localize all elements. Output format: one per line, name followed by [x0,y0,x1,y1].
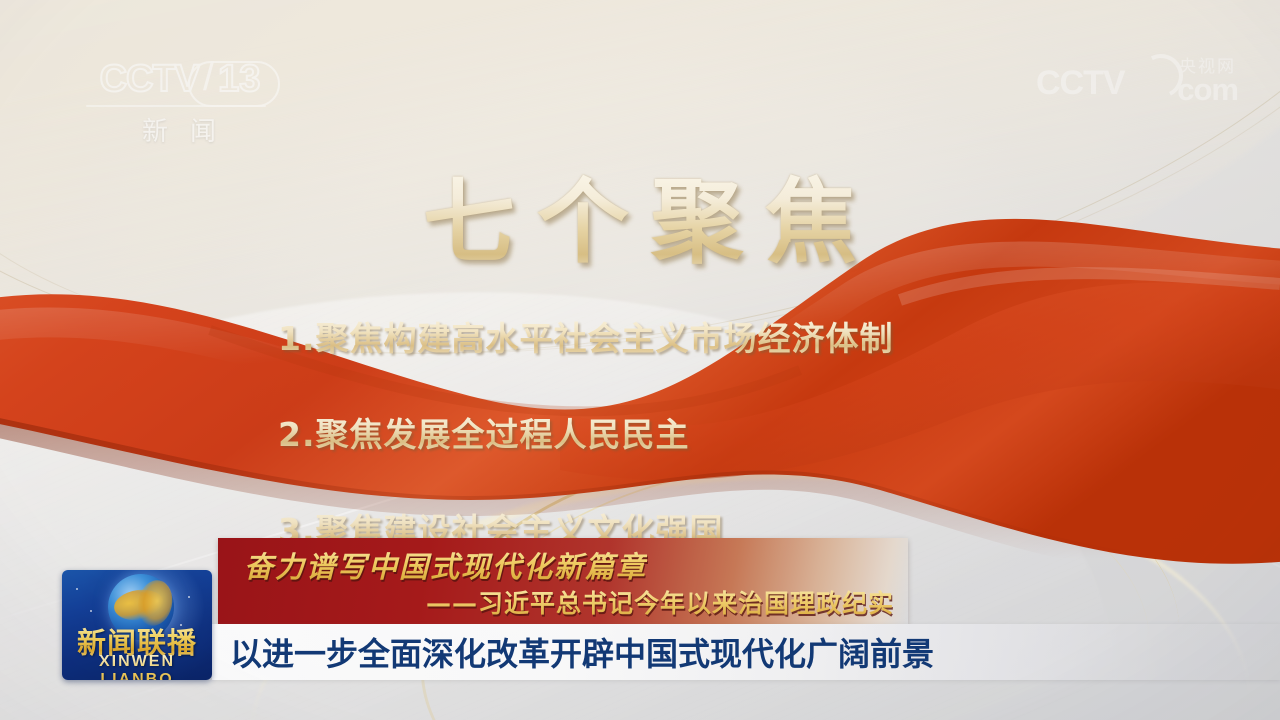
headline-bar: 以进一步全面深化改革开辟中国式现代化广阔前景 [212,624,1280,680]
cctv-wordmark: CCTV [100,58,199,101]
cctv-subtitle-char-2: 闻 [190,111,218,148]
star-dot-icon [188,596,190,598]
series-title-banner: 奋力谱写中国式现代化新篇章 ——习近平总书记今年以来治国理政纪实 [218,538,908,624]
star-dot-icon [76,588,78,590]
program-name-en: XINWEN LIANBO [62,653,212,680]
broadcast-frame: CCTV / 13 新 闻 CCTV 央视网 com 七个聚焦 1.聚焦构建高水… [0,0,1280,720]
cctv-com-wordmark: CCTV [1036,64,1125,103]
cctv-channel-subtitle: 新 闻 [80,111,280,148]
slide-title: 七个聚焦 [0,148,1280,281]
cctv-com-tld: com [1177,72,1238,108]
headline-text: 以进一步全面深化改革开辟中国式现代化广阔前景 [230,629,934,675]
cctv-oval-icon [188,61,280,107]
cctv-underline-rule [86,105,266,107]
series-title-text: 奋力谱写中国式现代化新篇章 [244,544,647,586]
cctv-com-watermark: CCTV 央视网 com [1036,52,1236,104]
series-subtitle-text: ——习近平总书记今年以来治国理政纪实 [426,584,894,620]
focus-list-item-2: 2.聚焦发展全过程人民民主 [278,408,1138,456]
cctv-subtitle-char-1: 新 [142,111,170,148]
xinwen-lianbo-badge: 新闻联播 XINWEN LIANBO [62,570,212,680]
cctv13-channel-bug: CCTV / 13 新 闻 [80,55,280,141]
focus-list-item-1: 1.聚焦构建高水平社会主义市场经济体制 [278,312,1138,360]
star-dot-icon [90,610,92,612]
